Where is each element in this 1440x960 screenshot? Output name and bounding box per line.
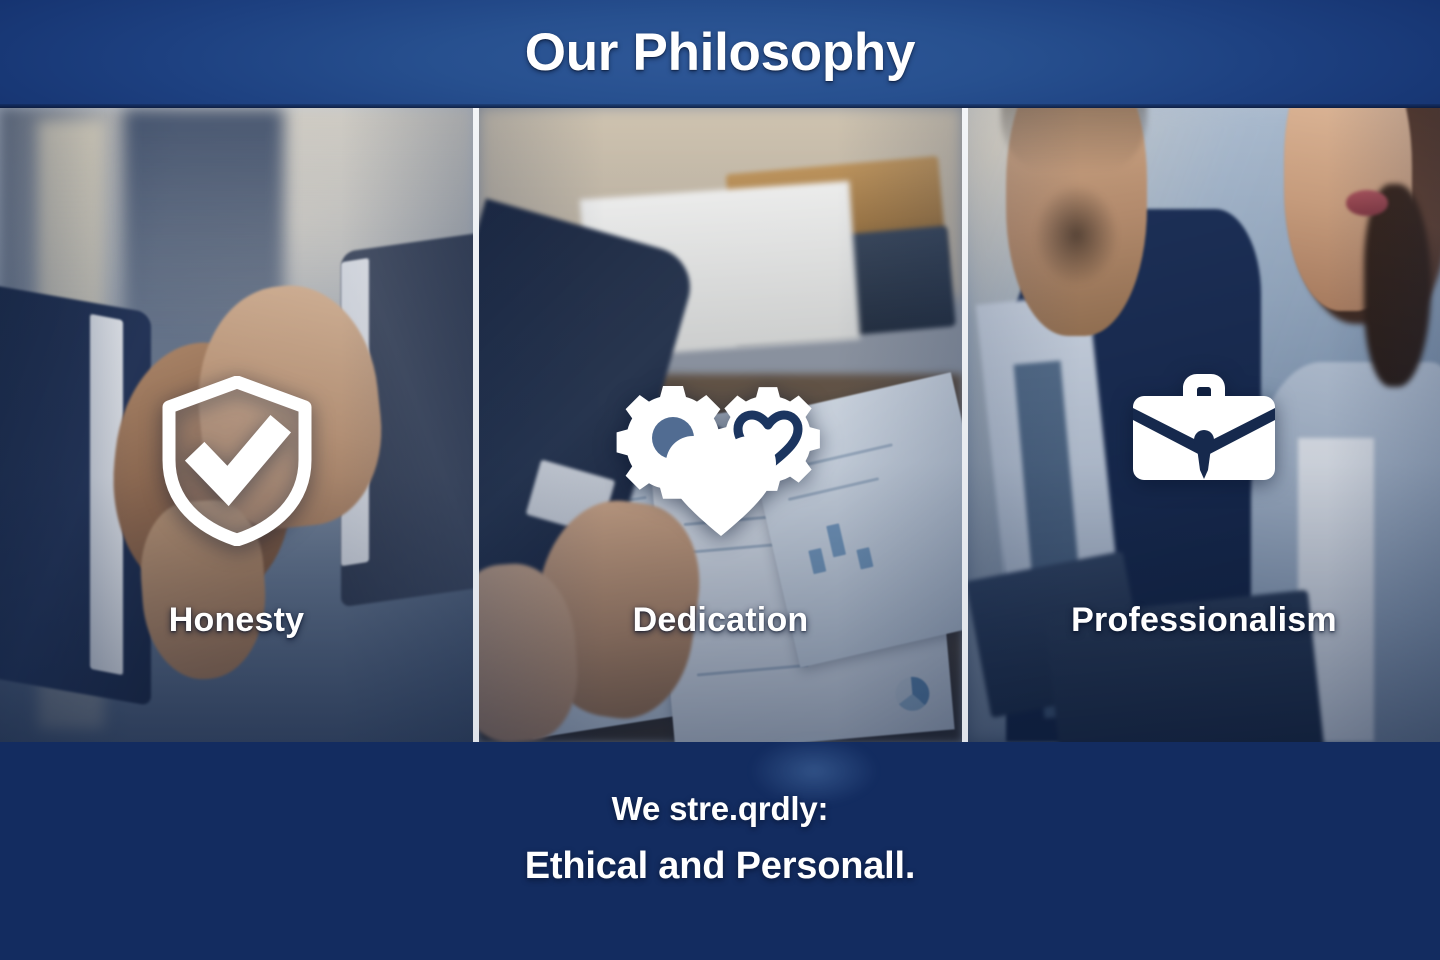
panel-professionalism[interactable]: Professionalism bbox=[968, 108, 1440, 742]
slide-header: Our Philosophy bbox=[0, 0, 1440, 108]
shield-check-icon-wrap bbox=[0, 376, 473, 546]
panel-caption-honesty: Honesty bbox=[0, 601, 473, 640]
footer-text-line-1: We stre.qrdly: bbox=[0, 790, 1440, 828]
panel-caption-professionalism: Professionalism bbox=[968, 601, 1440, 640]
philosophy-slide: Our Philosophy bbox=[0, 0, 1440, 960]
shield-check-icon bbox=[162, 376, 312, 546]
panel-dedication[interactable]: Dedication bbox=[479, 108, 962, 742]
briefcase-tie-icon-wrap bbox=[968, 358, 1440, 484]
value-panels: Honesty bbox=[0, 108, 1440, 742]
panel-honesty[interactable]: Honesty bbox=[0, 108, 473, 742]
briefcase-tie-icon bbox=[1131, 358, 1277, 484]
page-title: Our Philosophy bbox=[0, 26, 1440, 79]
panel-caption-dedication: Dedication bbox=[479, 601, 962, 640]
slide-footer: We stre.qrdly: Ethical and Personall. bbox=[0, 742, 1440, 960]
gears-heart-icon-wrap bbox=[479, 380, 962, 540]
footer-text-line-2: Ethical and Personall. bbox=[0, 845, 1440, 888]
gears-heart-icon bbox=[616, 380, 826, 540]
